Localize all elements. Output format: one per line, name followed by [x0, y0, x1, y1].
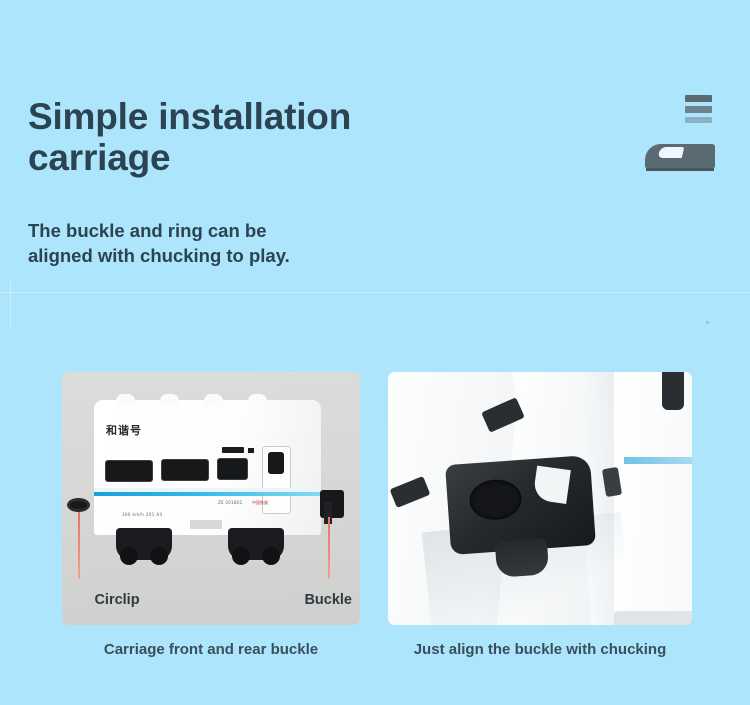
carriage-wheel	[232, 547, 250, 565]
black-fitting-corner	[662, 372, 684, 410]
caption-right: Just align the buckle with chucking	[388, 641, 692, 658]
subheading-line-1: The buckle and ring can be	[28, 219, 428, 244]
carriage-wheel	[120, 547, 138, 565]
roof-knob	[248, 394, 267, 406]
callout-label-buckle: Buckle	[304, 592, 352, 608]
circlip-ring-part	[67, 498, 90, 512]
carriage-micro-code: ZE 201801	[218, 500, 243, 505]
toy-carriage: 和谐号 300 km/h 201 A4 ZE 201801 中国铁路	[94, 400, 321, 535]
bullet-train-icon	[645, 144, 715, 172]
photo-card-carriage: 和谐号 300 km/h 201 A4 ZE 201801 中国铁路	[62, 372, 360, 625]
callout-leader-buckle	[328, 517, 330, 579]
subheading: The buckle and ring can be aligned with …	[28, 219, 428, 269]
carriage-vent-small	[248, 448, 254, 453]
carriage-micro-cn: 中国铁路	[252, 500, 268, 506]
train-window	[658, 147, 685, 158]
photo-card-buckle-closeup	[388, 372, 692, 625]
carriage-bogie	[116, 528, 172, 560]
carriage-vent	[222, 447, 244, 453]
buckle-ring-hole	[468, 478, 523, 522]
buckle-closeup-photo	[388, 372, 692, 625]
headline-line-1: Simple installation	[28, 96, 458, 137]
carriage-micro-speed: 300 km/h 201 A4	[122, 512, 162, 517]
buckle-notch	[532, 466, 570, 504]
roof-knob	[160, 394, 179, 406]
carriage-photo: 和谐号 300 km/h 201 A4 ZE 201801 中国铁路	[62, 372, 360, 625]
carriage-window	[161, 459, 209, 481]
carriage-plate	[190, 520, 222, 529]
callout-label-circlip: Circlip	[62, 592, 172, 608]
vertical-accent-line	[10, 281, 11, 327]
brand-emblem	[645, 95, 725, 185]
callout-leader-circlip	[78, 512, 80, 579]
train-base	[646, 168, 714, 171]
carriage-stripe-blue	[624, 457, 692, 464]
carriage-bogie	[228, 528, 284, 560]
subheading-line-2: aligned with chucking to play.	[28, 244, 428, 269]
carriage-wheel	[262, 547, 280, 565]
horizontal-divider	[0, 292, 750, 293]
dot-accent	[706, 321, 709, 324]
carriage-base-band	[614, 611, 692, 625]
roof-knob	[204, 394, 223, 406]
carriage-brand-text: 和谐号	[106, 422, 142, 438]
carriage-window	[217, 458, 248, 480]
speed-lines-icon	[685, 95, 712, 127]
headline-line-2: carriage	[28, 137, 458, 178]
carriage-wheel	[150, 547, 168, 565]
roof-knob	[116, 394, 135, 406]
speed-bar-1	[685, 95, 712, 102]
carriage-window	[105, 460, 153, 482]
speed-bar-2	[685, 106, 712, 113]
carriage-stripe-blue	[94, 492, 321, 496]
page-title: Simple installation carriage	[28, 96, 458, 179]
caption-left: Carriage front and rear buckle	[62, 641, 360, 658]
speed-bar-3	[685, 117, 712, 123]
door-window	[268, 452, 284, 474]
